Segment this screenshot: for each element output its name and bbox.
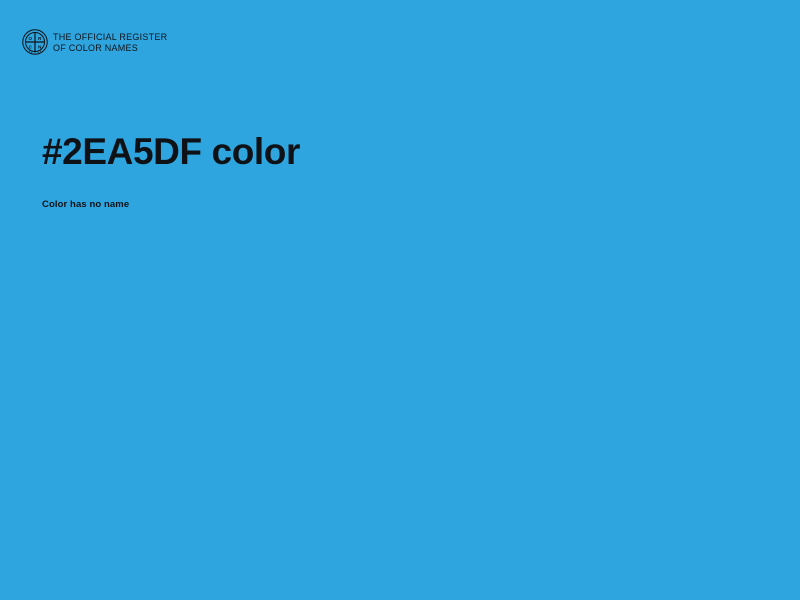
svg-text:C: C — [29, 45, 33, 50]
official-register-seal-icon: O R C N — [22, 29, 48, 55]
brand-wordmark: THE OFFICIAL REGISTER OF COLOR NAMES — [53, 31, 167, 53]
svg-text:N: N — [38, 45, 41, 50]
svg-text:R: R — [38, 36, 42, 41]
brand-line-2: OF COLOR NAMES — [53, 43, 167, 54]
brand-header[interactable]: O R C N THE OFFICIAL REGISTER OF COLOR N… — [22, 29, 167, 55]
color-name-status: Color has no name — [42, 199, 129, 210]
color-info-page: O R C N THE OFFICIAL REGISTER OF COLOR N… — [0, 0, 800, 600]
svg-text:O: O — [28, 36, 32, 41]
page-title: #2EA5DF color — [42, 131, 300, 173]
brand-line-1: THE OFFICIAL REGISTER — [53, 32, 167, 43]
